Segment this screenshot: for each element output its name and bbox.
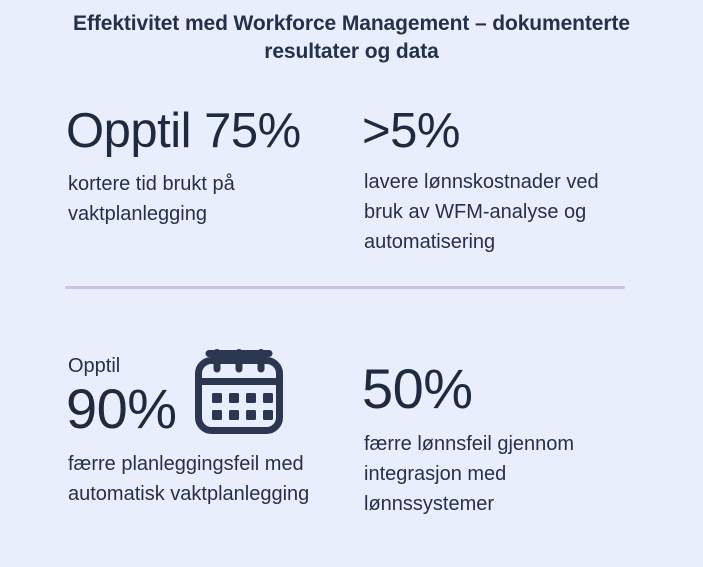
stat-description: kortere tid brukt på vaktplanlegging	[68, 169, 346, 229]
stats-row-top: Opptil 75% kortere tid brukt på vaktplan…	[0, 104, 703, 264]
stat-value: Opptil 75%	[66, 104, 346, 158]
stat-value: >5%	[362, 104, 632, 158]
stat-eyebrow: Opptil	[68, 354, 177, 378]
calendar-icon	[193, 348, 285, 436]
stat-value: 50%	[362, 360, 627, 418]
stat-card-lower-labour-cost: >5% lavere lønnskostnader ved bruk av WF…	[362, 104, 632, 257]
wfm-statistics-infographic: Effektivitet med Workforce Management – …	[0, 0, 703, 567]
stat-headline-row: Opptil 90%	[66, 348, 356, 438]
stat-description: færre lønnsfeil gjennom integrasjon med …	[364, 429, 627, 519]
page-title: Effektivitet med Workforce Management – …	[70, 10, 633, 66]
stat-card-shift-planning-time: Opptil 75% kortere tid brukt på vaktplan…	[66, 104, 346, 229]
stat-card-fewer-payroll-errors: 50% færre lønnsfeil gjennom integrasjon …	[362, 360, 627, 519]
stat-number-block: Opptil 90%	[66, 354, 177, 438]
section-divider	[65, 286, 625, 289]
stat-description: lavere lønnskostnader ved bruk av WFM-an…	[364, 167, 632, 257]
stat-value: 90%	[66, 380, 177, 438]
stat-description: færre planleggingsfeil med automatisk va…	[68, 449, 356, 509]
stats-row-bottom: Opptil 90%	[0, 348, 703, 558]
stat-card-fewer-planning-errors: Opptil 90%	[66, 348, 356, 509]
